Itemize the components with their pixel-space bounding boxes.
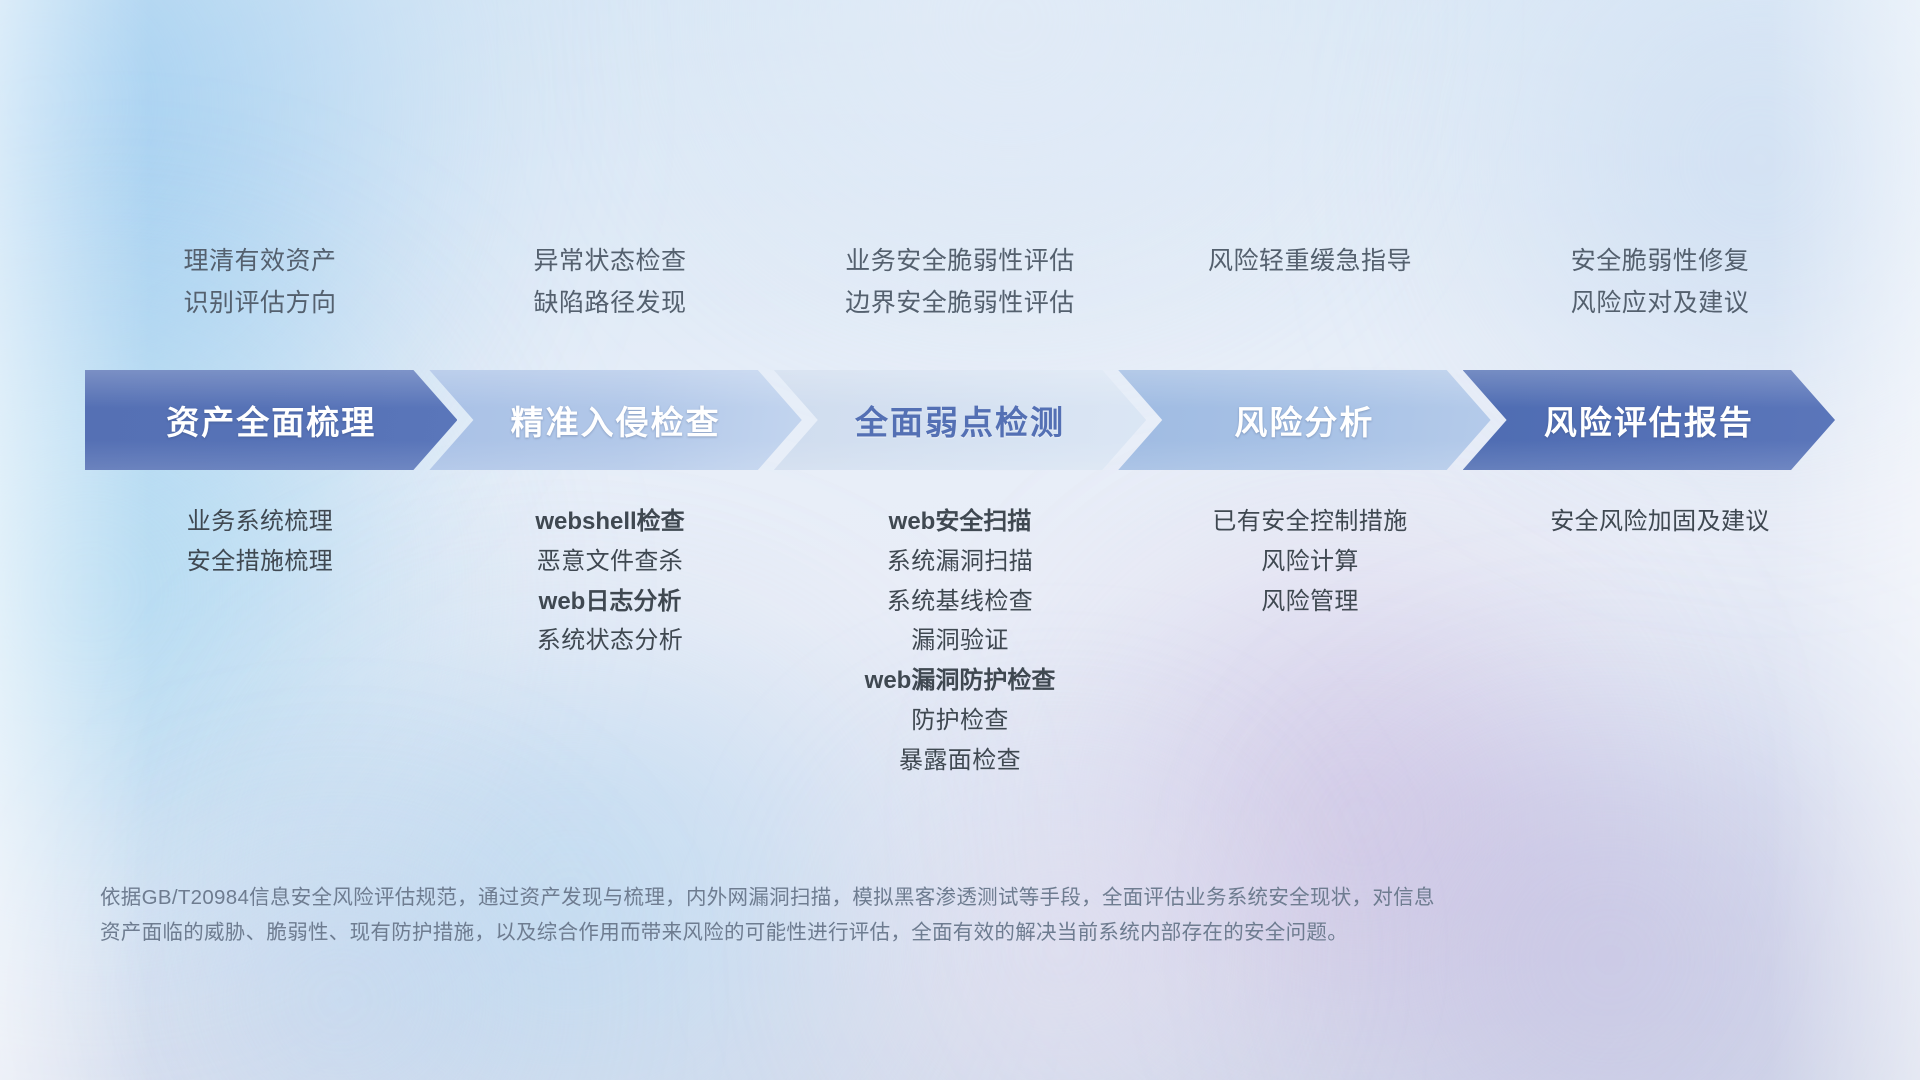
stage-bottom-item: 系统漏洞扫描 <box>785 542 1135 582</box>
stage-bottom-item: 安全风险加固及建议 <box>1485 502 1835 542</box>
stage-bottom-item: 防护检查 <box>785 701 1135 741</box>
chevron-track: 资产全面梳理 精准入侵检查 全面弱点检测 风险分析 风险评估报告 <box>85 370 1835 470</box>
stage-bottom-item: 恶意文件查杀 <box>435 542 785 582</box>
stage-top-note: 识别评估方向 <box>85 282 435 324</box>
stage-top-note: 边界安全脆弱性评估 <box>785 282 1135 324</box>
stage-top-notes: 异常状态检查 缺陷路径发现 <box>435 240 785 324</box>
stage-bottom-item: 漏洞验证 <box>785 621 1135 661</box>
chevron-label: 风险评估报告 <box>1544 396 1754 444</box>
stage-bottom-list: 业务系统梳理 安全措施梳理 <box>85 502 435 582</box>
stage-bottom-item: 暴露面检查 <box>785 741 1135 781</box>
chevron-stage-asset-inventory[interactable]: 资产全面梳理 <box>85 370 457 470</box>
stage-top-note: 缺陷路径发现 <box>435 282 785 324</box>
stage-top-notes: 理清有效资产 识别评估方向 <box>85 240 435 324</box>
stage-bottom-item: webshell检查 <box>435 502 785 542</box>
chevron-stage-risk-report[interactable]: 风险评估报告 <box>1463 370 1835 470</box>
chevron-label: 全面弱点检测 <box>855 396 1065 444</box>
stage-bottom-item: 风险计算 <box>1135 542 1485 582</box>
stage-top-notes: 业务安全脆弱性评估 边界安全脆弱性评估 <box>785 240 1135 324</box>
stage-top-note: 风险应对及建议 <box>1485 282 1835 324</box>
stage-bottom-item: 业务系统梳理 <box>85 502 435 542</box>
stage-bottom-item: 系统基线检查 <box>785 582 1135 622</box>
chevron-label: 风险分析 <box>1234 396 1374 444</box>
footer-line: 依据GB/T20984信息安全风险评估规范，通过资产发现与梳理，内外网漏洞扫描，… <box>100 880 1820 915</box>
footer-line: 资产面临的威胁、脆弱性、现有防护措施，以及综合作用而带来风险的可能性进行评估，全… <box>100 915 1820 950</box>
stage-bottom-item: web安全扫描 <box>785 502 1135 542</box>
chevron-stage-risk-analysis[interactable]: 风险分析 <box>1118 370 1490 470</box>
stage-top-note: 风险轻重缓急指导 <box>1135 240 1485 282</box>
stage-bottom-item: 安全措施梳理 <box>85 542 435 582</box>
stage-bottom-list: 已有安全控制措施 风险计算 风险管理 <box>1135 502 1485 621</box>
stage-top-note: 业务安全脆弱性评估 <box>785 240 1135 282</box>
stage-bottom-item: web漏洞防护检查 <box>785 661 1135 701</box>
stage-top-notes: 风险轻重缓急指导 <box>1135 240 1485 282</box>
chevron-label: 精准入侵检查 <box>511 396 721 444</box>
stage-bottom-item: 系统状态分析 <box>435 621 785 661</box>
chevron-label: 资产全面梳理 <box>166 396 376 444</box>
chevron-stage-weakness-detection[interactable]: 全面弱点检测 <box>774 370 1146 470</box>
process-chevron-band: 资产全面梳理 精准入侵检查 全面弱点检测 风险分析 风险评估报告 <box>85 370 1835 470</box>
stage-bottom-item: 风险管理 <box>1135 582 1485 622</box>
stage-top-note: 安全脆弱性修复 <box>1485 240 1835 282</box>
footer-description: 依据GB/T20984信息安全风险评估规范，通过资产发现与梳理，内外网漏洞扫描，… <box>100 880 1820 951</box>
stage-top-note: 理清有效资产 <box>85 240 435 282</box>
stage-bottom-item: 已有安全控制措施 <box>1135 502 1485 542</box>
stage-top-notes: 安全脆弱性修复 风险应对及建议 <box>1485 240 1835 324</box>
stage-bottom-list: webshell检查 恶意文件查杀 web日志分析 系统状态分析 <box>435 502 785 661</box>
chevron-stage-intrusion-check[interactable]: 精准入侵检查 <box>429 370 801 470</box>
stage-bottom-list: web安全扫描 系统漏洞扫描 系统基线检查 漏洞验证 web漏洞防护检查 防护检… <box>785 502 1135 781</box>
stage-top-note: 异常状态检查 <box>435 240 785 282</box>
stage-bottom-item: web日志分析 <box>435 582 785 622</box>
stage-bottom-list: 安全风险加固及建议 <box>1485 502 1835 542</box>
process-diagram: 理清有效资产 识别评估方向 业务系统梳理 安全措施梳理 异常状态检查 缺陷路径发… <box>0 0 1920 1080</box>
